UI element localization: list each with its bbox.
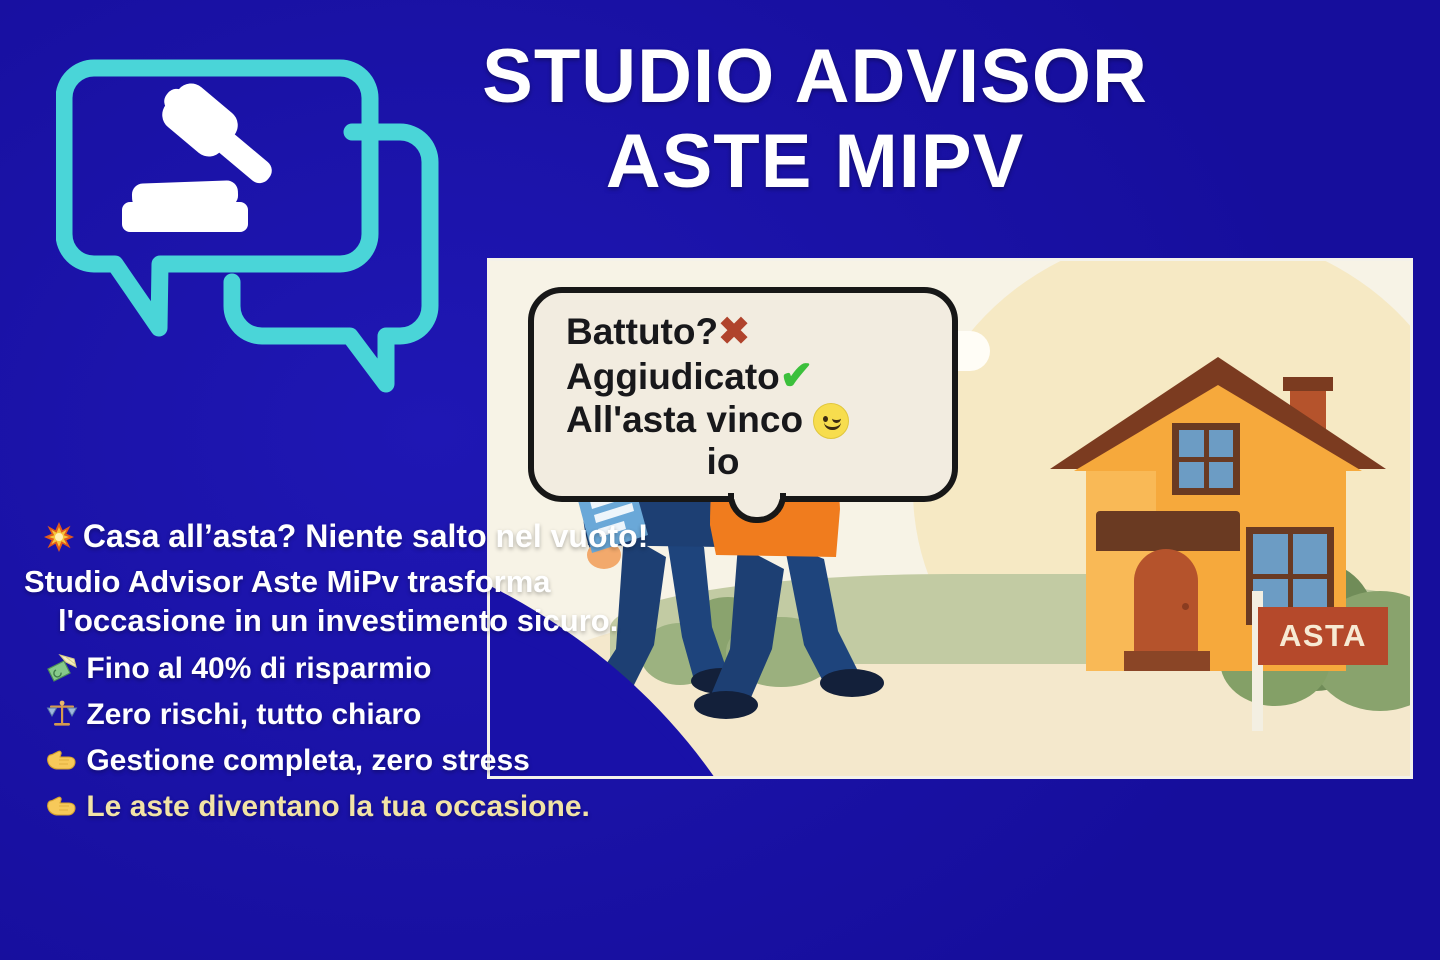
page-title: STUDIO ADVISOR ASTE MIPV [450, 34, 1180, 204]
cross-mark-icon: ✖ [718, 311, 750, 353]
gavel-speech-bubble-logo [56, 28, 456, 418]
winking-face-icon [813, 403, 849, 439]
lead-line: Casa all’asta? Niente salto nel vuoto! [0, 518, 760, 555]
bubble-line-3: All'asta vinco [566, 399, 803, 440]
check-mark-icon: ✔ [780, 354, 814, 398]
bullet-item-savings: Fino al 40% di risparmio [0, 652, 760, 686]
bullet-text: Gestione completa, zero stress [86, 744, 530, 777]
bullet-item-management: Gestione completa, zero stress [0, 744, 760, 778]
speech-bubble-text: Battuto?✖ Aggiudicato✔ All'asta vinco io [534, 293, 952, 496]
collision-burst-icon [44, 522, 74, 552]
porch-awning [1096, 511, 1240, 551]
title-line-1: STUDIO ADVISOR [482, 34, 1148, 119]
bullet-text: Zero rischi, tutto chiaro [86, 698, 421, 731]
front-door [1134, 549, 1198, 657]
poster-canvas: STUDIO ADVISOR ASTE MIPV [0, 0, 1440, 960]
bubble-line-4: io [566, 441, 928, 483]
bubble-line-2: Aggiudicato [566, 356, 780, 397]
speech-bubble-tail-mask [734, 487, 780, 499]
balance-scale-icon [46, 699, 78, 729]
subtitle-line-2: l'occasione in un investimento sicuro. [0, 603, 760, 639]
title-line-2: ASTE MIPV [450, 119, 1180, 204]
bullet-item-opportunity: Le aste diventano la tua occasione. [0, 790, 760, 824]
door-knob [1182, 603, 1189, 610]
marketing-copy: Casa all’asta? Niente salto nel vuoto! S… [0, 518, 760, 836]
bullet-text: Le aste diventano la tua occasione. [86, 790, 590, 823]
lead-text: Casa all’asta? Niente salto nel vuoto! [83, 518, 648, 554]
bullet-text: Fino al 40% di risparmio [86, 652, 431, 685]
asta-sign-label: ASTA [1279, 618, 1367, 654]
bullet-item-risk: Zero rischi, tutto chiaro [0, 698, 760, 732]
door-step [1124, 651, 1210, 671]
bubble-line-1: Battuto? [566, 311, 718, 352]
attic-window [1172, 423, 1240, 495]
pointing-right-hand-icon [46, 745, 78, 775]
subtitle-line-1: Studio Advisor Aste MiPv trasforma [0, 564, 760, 600]
speech-bubble: Battuto?✖ Aggiudicato✔ All'asta vinco io [528, 287, 958, 502]
money-with-wings-icon [46, 653, 78, 683]
asta-sign: ASTA [1258, 607, 1388, 665]
pointing-right-hand-icon [46, 791, 78, 821]
